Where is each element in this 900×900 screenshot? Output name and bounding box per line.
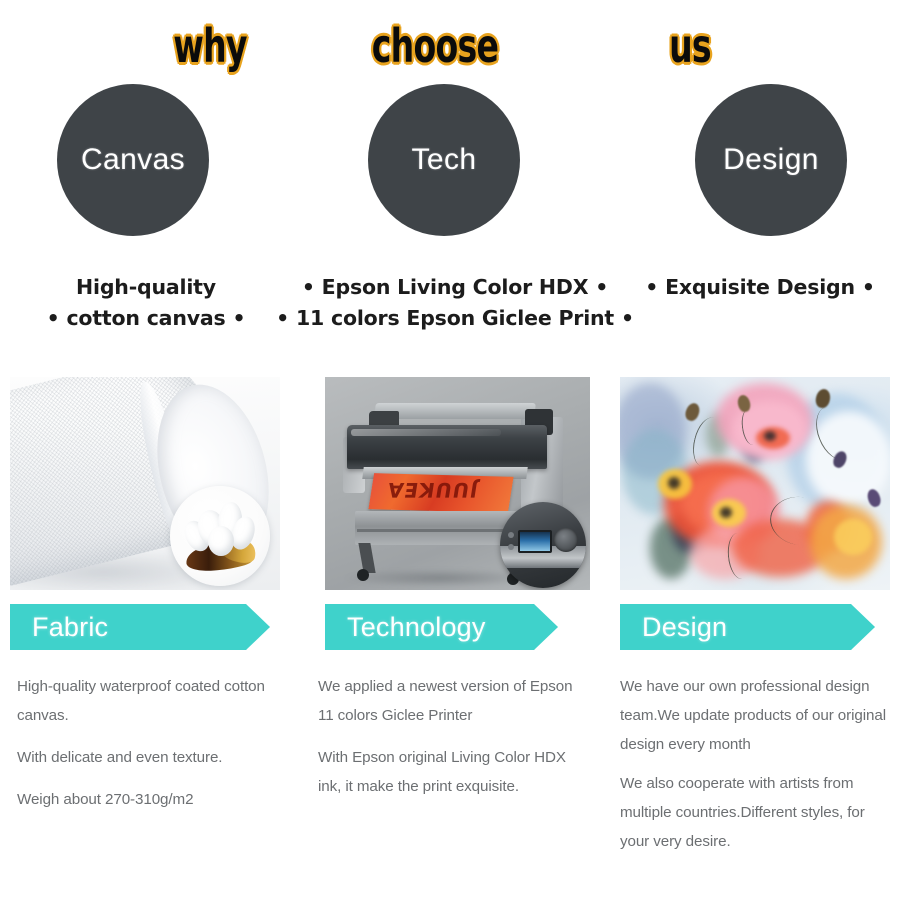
flower-yellow-left-center — [668, 477, 680, 489]
feature-line: • 11 colors Epson Giclee Print • — [270, 303, 640, 334]
cotton-boll — [208, 526, 234, 556]
banner-technology: Technology — [325, 604, 558, 650]
copy-paragraph: High-quality waterproof coated cotton ca… — [17, 672, 279, 730]
photo-canvas-fabric — [10, 377, 280, 590]
printed-poster-text: JUUKEA — [385, 478, 479, 502]
copy-row: High-quality waterproof coated cotton ca… — [0, 672, 900, 892]
flower-pink-stamen — [764, 431, 776, 441]
flower-yellow-mid-center — [720, 507, 732, 518]
headline-word-choose: choose — [356, 23, 514, 69]
floral-illustration — [620, 377, 890, 590]
copy-paragraph: We applied a newest version of Epson 11 … — [318, 672, 586, 730]
control-panel-inset — [500, 502, 586, 588]
fabric-illustration — [10, 377, 280, 590]
feature-line: • cotton canvas • — [0, 303, 292, 334]
copy-column-fabric: High-quality waterproof coated cotton ca… — [17, 672, 279, 827]
cotton-boll-inset — [170, 486, 270, 586]
badge-circle-label: Design — [723, 143, 819, 177]
banner-fabric: Fabric — [10, 604, 270, 650]
copy-column-design: We have our own professional design team… — [620, 672, 892, 866]
flower-amber-right-inner — [834, 519, 872, 555]
printer-body-highlight — [351, 429, 501, 436]
copy-paragraph: Weigh about 270-310g/m2 — [17, 785, 279, 814]
copy-column-technology: We applied a newest version of Epson 11 … — [318, 672, 586, 814]
banner-label: Design — [620, 612, 727, 643]
printer-caster — [357, 569, 369, 581]
badge-circle-row: Canvas Tech Design — [0, 84, 900, 244]
feature-line: • Epson Living Color HDX • — [270, 272, 640, 303]
badge-circle-design: Design — [695, 84, 847, 236]
banner-label: Technology — [325, 612, 486, 643]
flower-bud — [683, 401, 701, 422]
feature-line: High-quality — [0, 272, 292, 303]
photo-epson-printer: JUUKEA — [325, 377, 590, 590]
control-panel-button — [508, 544, 514, 550]
badge-circle-label: Canvas — [81, 143, 185, 177]
banner-design: Design — [620, 604, 875, 650]
badge-circle-canvas: Canvas — [57, 84, 209, 236]
banner-label: Fabric — [10, 612, 108, 643]
photo-row: JUUKEA — [0, 377, 900, 590]
infographic-page: why choose us Canvas Tech Design High-qu… — [0, 0, 900, 900]
banner-row: Fabric Technology Design — [0, 604, 900, 652]
copy-paragraph: With Epson original Living Color HDX ink… — [318, 743, 586, 801]
feature-block-design: • Exquisite Design • — [620, 272, 900, 303]
headline: why choose us — [0, 16, 900, 76]
feature-text-row: High-quality • cotton canvas • • Epson L… — [0, 272, 900, 350]
control-panel-dpad-icon — [554, 528, 578, 552]
control-panel-button — [508, 532, 514, 538]
control-panel-screen — [518, 530, 552, 553]
copy-paragraph: We have our own professional design team… — [620, 672, 892, 759]
printer-basket-seam — [357, 529, 523, 532]
copy-paragraph: With delicate and even texture. — [17, 743, 279, 772]
feature-block-canvas: High-quality • cotton canvas • — [0, 272, 292, 334]
feature-line: • Exquisite Design • — [620, 272, 900, 303]
feature-block-tech: • Epson Living Color HDX • • 11 colors E… — [270, 272, 640, 334]
photo-floral-art — [620, 377, 890, 590]
printer-illustration: JUUKEA — [325, 377, 590, 590]
badge-circle-tech: Tech — [368, 84, 520, 236]
headline-word-us: us — [618, 23, 762, 69]
headline-word-why: why — [145, 23, 275, 69]
badge-circle-label: Tech — [412, 143, 477, 177]
copy-paragraph: We also cooperate with artists from mult… — [620, 769, 892, 856]
